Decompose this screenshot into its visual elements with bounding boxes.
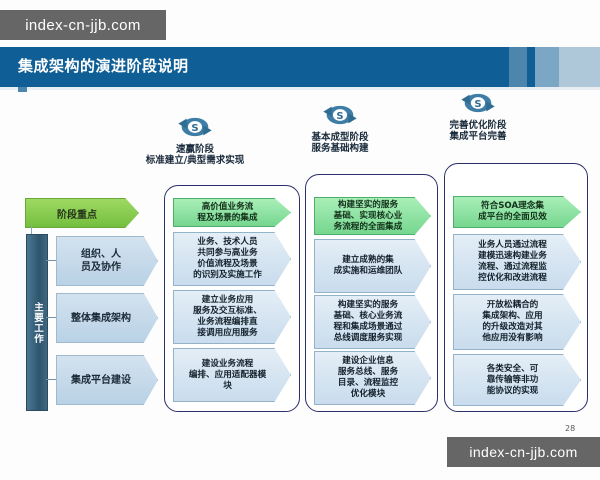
- phase-cell-focus: 构建坚实的服务 基础、实现核心业 务流程的全面集成: [314, 197, 431, 235]
- rail-row-architecture: 整体集成架构: [56, 293, 158, 343]
- phase-cell-text: 建立成熟的集 成实施和运维团队: [329, 253, 417, 279]
- phase-cell-text: 业务人员通过流程 建模迅速构建业务 流程、通过流程监 控优化和改进流程: [473, 238, 561, 286]
- recycle-icon: S: [458, 88, 498, 118]
- page-title: 集成架构的演进阶段说明: [18, 55, 189, 76]
- phase-cell-text: 高价值业务流 程及场景的集成: [192, 200, 271, 226]
- phase-cell-text: 建设业务流程 编排、应用适配器模 块: [184, 357, 280, 394]
- rail-highlight-arrow: 阶段重点: [25, 198, 139, 228]
- phase-cell-platform: 建设企业信息 服务总线、服务 目录、流程监控 优化模块: [314, 351, 431, 405]
- rail-connector: [46, 260, 57, 261]
- phase-cell-architecture: 建立业务应用 服务及交互标准、 业务流程编排直 接调用应用服务: [173, 290, 291, 344]
- svg-text:S: S: [474, 99, 481, 110]
- rail-connector: [46, 379, 57, 380]
- watermark-top: index-cn-jjb.com: [0, 10, 166, 40]
- phase-cell-focus: 符合SOA理念集 成平台的全面见效: [453, 196, 581, 228]
- phase-cell-organization: 建立成熟的集 成实施和运维团队: [314, 239, 431, 293]
- title-band-4: [559, 47, 600, 87]
- phase-cell-text: 构建坚实的服务 基础、实现核心业 务流程的全面集成: [329, 198, 417, 235]
- phase-cell-organization: 业务人员通过流程 建模迅速构建业务 流程、通过流程监 控优化和改进流程: [453, 234, 581, 290]
- svg-text:S: S: [336, 111, 343, 122]
- recycle-icon: S: [320, 100, 360, 130]
- phase-cell-focus: 高价值业务流 程及场景的集成: [173, 198, 291, 227]
- watermark-bottom: index-cn-jjb.com: [447, 437, 600, 467]
- phase-cell-platform: 建设业务流程 编排、应用适配器模 块: [173, 348, 291, 402]
- phase-column-2: 构建坚实的服务 基础、实现核心业 务流程的全面集成 建立成熟的集 成实施和运维团…: [305, 174, 438, 412]
- rail-row-label: 整体集成架构: [71, 312, 143, 325]
- phase-header-3: S 完善优化阶段 集成平台完善: [393, 88, 563, 142]
- phase-cell-text: 各类安全、可 靠传输等非功 能协议的实现: [482, 362, 553, 399]
- phase-cell-text: 开放松耦合的 集成架构、应用 的升级改造对其 他应用没有影响: [477, 298, 556, 346]
- phase-cell-architecture: 构建坚实的服务 基础、核心业务流 程和集成场景通过 总线调度服务实现: [314, 295, 431, 349]
- title-tab-marker: [18, 87, 27, 92]
- rail-connector: [46, 317, 57, 318]
- phase-cell-architecture: 开放松耦合的 集成架构、应用 的升级改造对其 他应用没有影响: [453, 294, 581, 350]
- slide-canvas: 集成架构的演进阶段说明 S 速赢阶段 标准建立/典型需求实现 S 基本成型阶段 …: [0, 0, 600, 480]
- title-band-3: [535, 47, 559, 87]
- title-band-2: [527, 47, 535, 87]
- rail-row-label: 组织、人 员及协作: [81, 248, 133, 274]
- phase-column-3: 符合SOA理念集 成平台的全面见效 业务人员通过流程 建模迅速构建业务 流程、通…: [444, 163, 588, 412]
- phase-cell-text: 建设企业信息 服务总线、服务 目录、流程监控 优化模块: [333, 354, 412, 402]
- rail-row-label: 集成平台建设: [71, 374, 143, 387]
- page-number: 28: [565, 424, 575, 433]
- phase-cell-platform: 各类安全、可 靠传输等非功 能协议的实现: [453, 354, 581, 406]
- rail-vertical-bar: 主要工作: [26, 234, 48, 411]
- slide-title-bar: 集成架构的演进阶段说明: [0, 47, 600, 87]
- title-band-1: [509, 47, 527, 87]
- phase-column-1: 高价值业务流 程及场景的集成 业务、技术人员 共同参与高业务 价值流程及场景 的…: [164, 185, 300, 412]
- svg-text:S: S: [191, 123, 198, 134]
- rail-row-platform: 集成平台建设: [56, 355, 158, 405]
- phase-label: 完善优化阶段 集成平台完善: [393, 120, 563, 142]
- rail-vertical-label: 主要工作: [30, 302, 44, 344]
- phase-cell-text: 建立业务应用 服务及交互标准、 业务流程编排直 接调用应用服务: [188, 293, 276, 341]
- rail-highlight-label: 阶段重点: [57, 206, 107, 221]
- phase-cell-text: 业务、技术人员 共同参与高业务 价值流程及场景 的识别及实施工作: [188, 235, 276, 283]
- phase-cell-organization: 业务、技术人员 共同参与高业务 价值流程及场景 的识别及实施工作: [173, 232, 291, 286]
- phase-cell-text: 符合SOA理念集 成平台的全面见效: [473, 199, 561, 225]
- phase-cell-text: 构建坚实的服务 基础、核心业务流 程和集成场景通过 总线调度服务实现: [329, 298, 417, 346]
- recycle-icon: S: [175, 112, 215, 142]
- rail-row-organization: 组织、人 员及协作: [56, 236, 158, 286]
